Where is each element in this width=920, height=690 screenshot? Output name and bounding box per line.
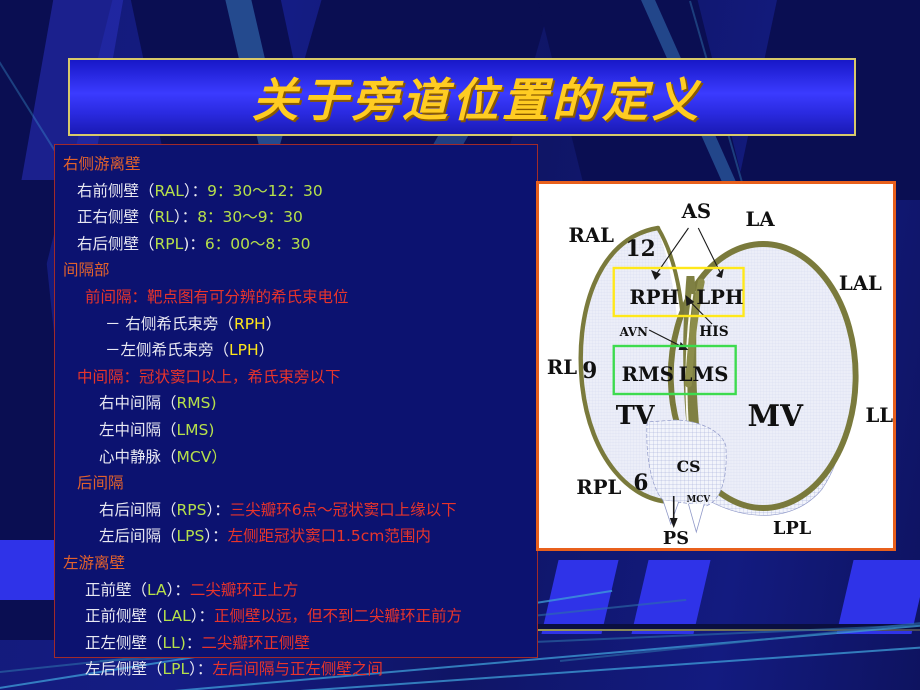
definition-text-run: ）： [204,527,227,545]
definition-text-run: ）： [189,660,212,678]
definition-text-run: 右前侧壁（ [77,182,155,200]
definition-line: 左中间隔（LMS) [61,417,537,444]
definition-text-run: － 右侧希氏束旁（ [105,315,234,333]
label-lms: LMS [679,362,729,386]
definition-text-run: ）： [174,208,197,226]
definition-text-run: 后间隔 [77,474,124,492]
definition-text-run: 心中静脉（ [99,448,177,466]
valve-annulus-diagram: RAL AS LA LAL 12 RPH LPH AVN HIS RL 9 RM… [539,184,893,548]
definition-text-run: LA [147,581,167,599]
definition-text-run: LPH [229,341,259,359]
label-12: 12 [626,237,656,262]
label-6: 6 [633,471,648,496]
definition-line: 右后间隔（RPS）：三尖瓣环6点～冠状窦口上缘以下 [61,497,537,524]
label-9: 9 [582,359,597,384]
definition-line: 正前侧壁（LAL）：正侧壁以远，但不到二尖瓣环正前方 [61,603,537,630]
definition-text-run: ） [259,341,275,359]
label-ll: LL [865,403,893,427]
definition-line: 右前侧壁（RAL）：9：30～12：30 [61,178,537,205]
label-rpl: RPL [576,475,621,499]
definition-text-run: 左后间隔（ [99,527,177,545]
label-la: LA [746,207,776,231]
definition-text-run: 右中间隔（ [99,394,177,412]
definition-text-run: 前间隔：靶点图有可分辨的希氏束电位 [85,288,349,306]
definition-line: 间隔部 [61,257,537,284]
definition-line: 左游离壁 [61,550,537,577]
definition-line: －左侧希氏束旁（LPH） [61,337,537,364]
page-title: 关于旁道位置的定义 [222,64,702,130]
definition-text-run: 左后侧壁（ [85,660,163,678]
definition-text-run: 6：00～8：30 [205,235,311,253]
definition-text-run: LPS [177,527,205,545]
slide-title-bar: 关于旁道位置的定义 [68,58,856,136]
label-as: AS [681,199,711,223]
definition-text-run: MCV） [177,448,227,466]
definition-text-run: 正左侧壁（ [85,634,163,652]
definition-text-run: 左中间隔（ [99,421,177,439]
definition-text-run: 右后间隔（ [99,501,177,519]
definition-text-run: RPH [234,315,266,333]
definition-text-run: RPL [155,235,184,253]
definition-text-run: RAL [155,182,184,200]
definition-line: 右后侧壁（RPL)：6：00～8：30 [61,231,537,258]
definitions-line-list: 右侧游离壁右前侧壁（RAL）：9：30～12：30正右侧壁（RL）：8：30～9… [61,151,537,683]
definition-text-run: －左侧希氏束旁（ [105,341,229,359]
definition-text-run: ）： [184,182,207,200]
definitions-text-panel: 右侧游离壁右前侧壁（RAL）：9：30～12：30正右侧壁（RL）：8：30～9… [54,144,538,658]
definition-text-run: 正右侧壁（ [77,208,155,226]
label-lal: LAL [839,271,882,295]
label-rms: RMS [622,362,674,386]
definition-text-run: 二尖瓣环正侧壁 [201,634,310,652]
label-lph: LPH [696,285,743,309]
label-ral: RAL [569,223,614,247]
definition-text-run: RMS) [177,394,217,412]
definition-text-run: 正侧壁以远，但不到二尖瓣环正前方 [214,607,462,625]
label-cs: CS [677,457,701,476]
definition-line: 后间隔 [61,470,537,497]
diagram-svg: RAL AS LA LAL 12 RPH LPH AVN HIS RL 9 RM… [539,184,893,548]
definition-line: 中间隔：冠状窦口以上，希氏束旁以下 [61,364,537,391]
definition-text-run: 左后间隔与正左侧壁之间 [212,660,383,678]
label-lpl: LPL [773,518,812,539]
definition-text-run: LAL [163,607,191,625]
definition-text-run: 正前侧壁（ [85,607,163,625]
definition-line: 右中间隔（RMS) [61,390,537,417]
definition-text-run: 正前壁（ [85,581,147,599]
definition-text-run: LMS) [177,421,215,439]
label-avn: AVN [619,325,648,339]
definition-line: 右侧游离壁 [61,151,537,178]
definition-text-run: 三尖瓣环6点～冠状窦口上缘以下 [230,501,457,519]
definition-text-run: LPL [163,660,190,678]
definition-text-run: 左游离壁 [63,554,125,572]
definition-text-run: ： [186,634,202,652]
definition-line: 左后侧壁（LPL）：左后间隔与正左侧壁之间 [61,656,537,683]
definition-text-run: 中间隔：冠状窦口以上，希氏束旁以下 [77,368,341,386]
definition-text-run: ）： [191,607,214,625]
slide-canvas: 关于旁道位置的定义 右侧游离壁右前侧壁（RAL）：9：30～12：30正右侧壁（… [0,0,920,690]
definition-text-run: 8：30～9：30 [197,208,303,226]
definition-line: 正右侧壁（RL）：8：30～9：30 [61,204,537,231]
label-rl: RL [547,355,577,379]
definition-text-run: RPS [177,501,207,519]
anatomy-image-panel: RAL AS LA LAL 12 RPH LPH AVN HIS RL 9 RM… [536,181,896,551]
definition-line: 正前壁（LA）：二尖瓣环正上方 [61,577,537,604]
label-tv: TV [616,401,656,431]
definition-text-run: 二尖瓣环正上方 [190,581,299,599]
definition-line: 心中静脉（MCV） [61,444,537,471]
definition-text-run: ）： [206,501,229,519]
definition-line: － 右侧希氏束旁（RPH） [61,311,537,338]
definition-line: 前间隔：靶点图有可分辨的希氏束电位 [61,284,537,311]
definition-text-run: ）： [167,581,190,599]
definition-text-run: LL) [163,634,186,652]
definition-text-run: RL [155,208,174,226]
definition-text-run: ） [266,315,282,333]
definition-text-run: 右侧游离壁 [63,155,141,173]
label-rph: RPH [629,285,679,309]
definition-text-run: 左侧距冠状窦口1.5cm范围内 [228,527,431,545]
label-mv: MV [747,399,803,434]
label-mcv: MCV [687,495,712,505]
definition-text-run: 右后侧壁（ [77,235,155,253]
label-his: HIS [699,324,728,340]
definition-line: 左后间隔（LPS）：左侧距冠状窦口1.5cm范围内 [61,523,537,550]
definition-text-run: 9：30～12：30 [207,182,323,200]
label-ps: PS [663,528,689,548]
definition-text-run: )： [183,235,205,253]
definition-line: 正左侧壁（LL)：二尖瓣环正侧壁 [61,630,537,657]
definition-text-run: 间隔部 [63,261,110,279]
